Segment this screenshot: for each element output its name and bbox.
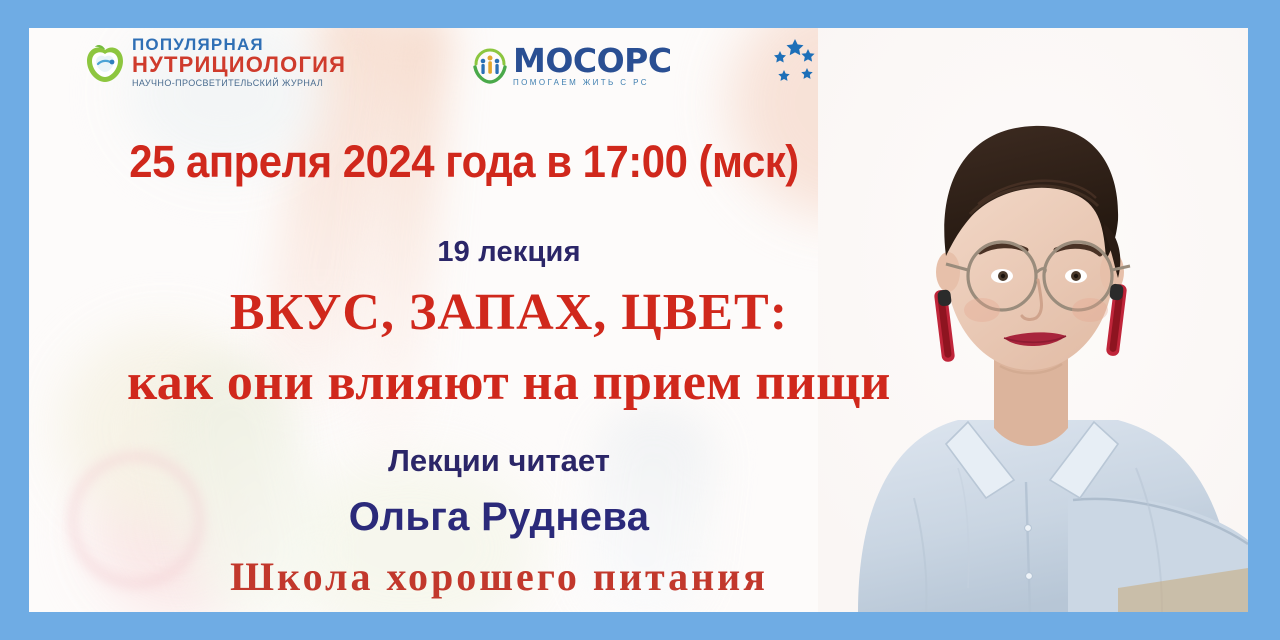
- poster-banner: ПОПУЛЯРНАЯ НУТРИЦИОЛОГИЯ НАУЧНО-ПРОСВЕТИ…: [0, 0, 1280, 640]
- logo-populyarnaya-nutriciologiya: ПОПУЛЯРНАЯ НУТРИЦИОЛОГИЯ НАУЧНО-ПРОСВЕТИ…: [84, 36, 346, 88]
- logo-vsp-line3: Здоровье для всех!: [828, 72, 968, 83]
- stars-people-circle-icon: [769, 36, 821, 86]
- logo-mocopc-line1: МОСОРС: [513, 44, 672, 77]
- school-name: Школа хорошего питания: [29, 553, 969, 600]
- speaker-name: Ольга Руднева: [29, 495, 969, 540]
- ms-wave-icon: MS: [1057, 32, 1135, 84]
- logo-nutri-line3: НАУЧНО-ПРОСВЕТИТЕЛЬСКИЙ ЖУРНАЛ: [132, 79, 346, 88]
- logo-vsp-text: ВСЕРОССИЙСКИЙ СОЮЗ ПАЦИЕНТОВ Здоровье дл…: [828, 39, 968, 82]
- lecture-title-line1: ВКУС, ЗАПАХ, ЦВЕТ:: [29, 283, 989, 342]
- logo-oooibrs: MS ОООИБРС: [1057, 32, 1135, 95]
- reader-label: Лекции читает: [29, 443, 969, 479]
- poster-card: ПОПУЛЯРНАЯ НУТРИЦИОЛОГИЯ НАУЧНО-ПРОСВЕТИ…: [29, 28, 1248, 612]
- logo-mocopc-line2: ПОМОГАЕМ ЖИТЬ С РС: [513, 79, 672, 87]
- event-date-line: 25 апреля 2024 года в 17:00 (мск): [59, 136, 868, 188]
- logo-ms-line2: ОООИБРС: [1057, 85, 1135, 95]
- lecture-title-line2: как они влияют на прием пищи: [29, 353, 989, 412]
- logo-nutri-line2: НУТРИЦИОЛОГИЯ: [132, 54, 346, 76]
- logo-vserossiyskiy-soyuz-pacientov: ВСЕРОССИЙСКИЙ СОЮЗ ПАЦИЕНТОВ Здоровье дл…: [769, 36, 968, 86]
- logo-nutri-text: ПОПУЛЯРНАЯ НУТРИЦИОЛОГИЯ НАУЧНО-ПРОСВЕТИ…: [132, 36, 346, 88]
- hand-people-icon: [472, 48, 508, 84]
- logo-ms-wrap: MS ОООИБРС: [1057, 32, 1135, 95]
- logo-nutri-line1: ПОПУЛЯРНАЯ: [132, 36, 346, 53]
- logo-mocopc-text: МОСОРС ПОМОГАЕМ ЖИТЬ С РС: [513, 44, 672, 87]
- green-apple-icon: [84, 40, 126, 84]
- logo-row: ПОПУЛЯРНАЯ НУТРИЦИОЛОГИЯ НАУЧНО-ПРОСВЕТИ…: [29, 28, 1248, 106]
- lecture-number: 19 лекция: [29, 236, 989, 269]
- logo-vsp-line2: СОЮЗ ПАЦИЕНТОВ: [828, 55, 968, 70]
- logo-vsp-line1: ВСЕРОССИЙСКИЙ: [828, 39, 968, 54]
- logo-mocopc: МОСОРС ПОМОГАЕМ ЖИТЬ С РС: [472, 44, 672, 87]
